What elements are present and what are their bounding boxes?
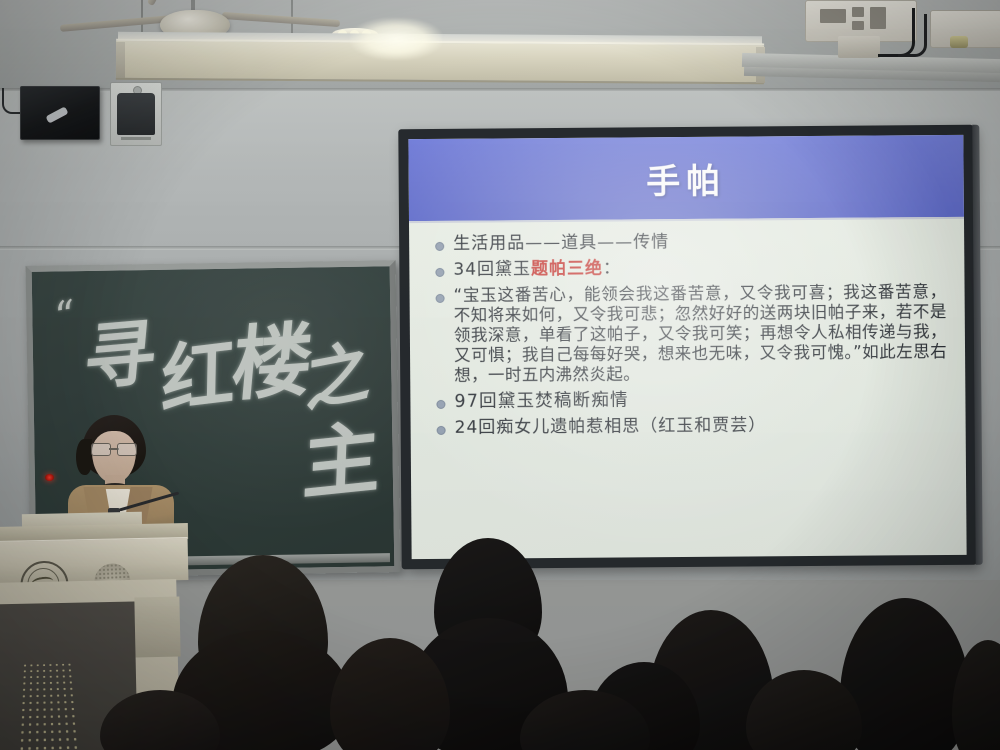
bullet-marker-icon (436, 294, 445, 303)
light-end-cap (116, 42, 125, 78)
slide-quote-passage: “宝玉这番苦心，能领会我这番苦意，又令我可喜；我这番苦意，不知将来如何，又令我可… (454, 282, 948, 386)
laser-pointer-dot (45, 474, 54, 481)
slide: 手帕 生活用品——道具——传情 34回黛玉题帕三绝： “宝玉这番苦心，能领会我这… (408, 135, 966, 559)
slide-title: 手帕 (408, 135, 964, 221)
slide-bullet-5-label: 24回痴女儿遗帕惹相思（红玉和贾芸） (455, 415, 767, 440)
slide-bullet-4: 97回黛玉焚稿断痴情 (436, 386, 947, 414)
slide-body: 生活用品——道具——传情 34回黛玉题帕三绝： “宝玉这番苦心，能领会我这番苦意… (409, 217, 967, 559)
slide-bullet-2-label: 34回黛玉题帕三绝： (453, 257, 621, 281)
panel-slot (121, 137, 151, 140)
bullet-marker-icon (437, 426, 446, 435)
speaker-glint (45, 106, 68, 123)
bullet-2-highlight: 题帕三绝 (531, 259, 603, 280)
slide-bullet-4-label: 97回黛玉焚稿断痴情 (454, 389, 628, 414)
projector-lens-icon (950, 36, 968, 48)
projection-screen: 手帕 生活用品——道具——传情 34回黛玉题帕三绝： “宝玉这番苦心，能领会我这… (398, 125, 976, 570)
slide-bullet-5: 24回痴女儿遗帕惹相思（红玉和贾芸） (437, 413, 948, 440)
audience (0, 520, 1000, 750)
wall-control-panel[interactable] (110, 82, 162, 146)
wall-speaker-icon (20, 86, 100, 140)
light-tube-glow (350, 18, 442, 60)
slide-bullet-1-label: 生活用品——道具——传情 (453, 231, 669, 256)
bullet-marker-icon (435, 242, 444, 251)
slide-bullet-1: 生活用品——道具——传情 (435, 229, 946, 256)
projector-cable-2 (898, 14, 927, 57)
panel-screen (117, 93, 155, 135)
bullet-2-suffix: ： (603, 258, 621, 278)
bullet-2-prefix: 34回黛玉 (453, 259, 531, 280)
slide-bullet-3: “宝玉这番苦心，能领会我这番苦意，又令我可喜；我这番苦意，不知将来如何，又令我可… (436, 281, 948, 387)
bullet-marker-icon (436, 399, 445, 408)
bullet-marker-icon (435, 268, 444, 277)
slide-bullet-2: 34回黛玉题帕三绝： (435, 255, 946, 282)
projector-mount-arm (838, 36, 880, 58)
lecture-hall-photo: “ 寻 红 楼 之 主 手帕 生活用品——道具——传情 34回黛玉题帕三绝： (0, 0, 1000, 750)
glasses-icon (91, 443, 137, 454)
